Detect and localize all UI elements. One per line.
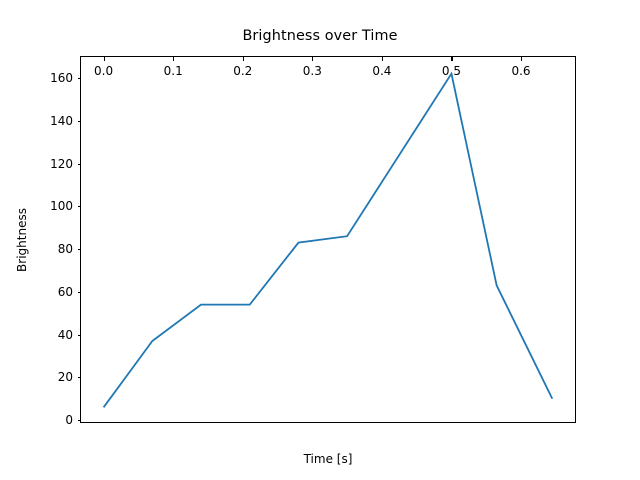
y-tick-label: 120 bbox=[50, 158, 73, 170]
y-axis-label-text: Brightness bbox=[15, 208, 29, 272]
y-tick-label: 140 bbox=[50, 115, 73, 127]
data-series-brightness bbox=[104, 74, 553, 408]
y-tick-label: 160 bbox=[50, 72, 73, 84]
plot-area: 020406080100120140160 0.00.10.20.30.40.5… bbox=[80, 56, 576, 423]
data-line-layer bbox=[81, 57, 577, 424]
y-tick-label: 60 bbox=[58, 286, 73, 298]
y-tick-label: 40 bbox=[58, 329, 73, 341]
y-tick-label: 0 bbox=[65, 414, 73, 426]
y-axis-label: Brightness bbox=[14, 56, 30, 423]
y-tick-label: 20 bbox=[58, 371, 73, 383]
matplotlib-figure: Brightness over Time Brightness Time [s]… bbox=[0, 0, 640, 480]
page-title: Brightness over Time bbox=[0, 27, 640, 45]
x-axis-label: Time [s] bbox=[80, 452, 576, 466]
y-tick-label: 100 bbox=[50, 200, 73, 212]
y-tick-label: 80 bbox=[58, 243, 73, 255]
